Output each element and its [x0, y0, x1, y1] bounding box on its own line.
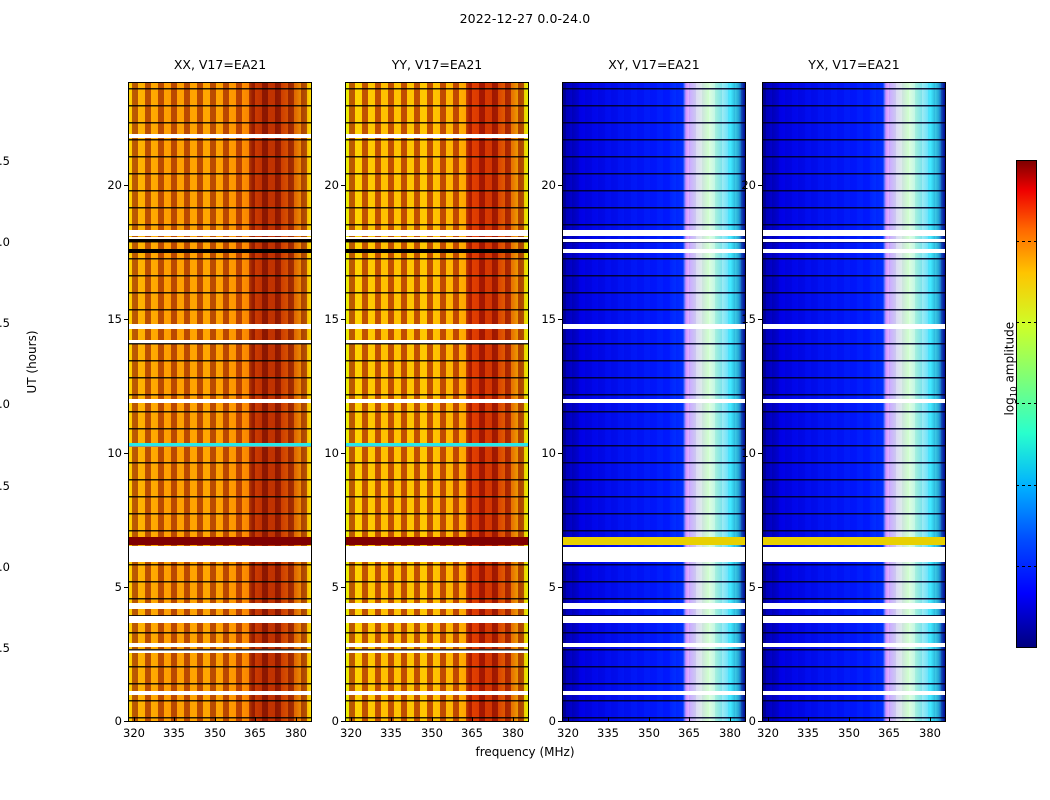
x-tick-label: 335	[374, 726, 408, 740]
y-tick-label: 15	[522, 312, 556, 326]
x-tick-label: 380	[279, 726, 313, 740]
y-tick-label: 15	[88, 312, 122, 326]
y-tick-label: 5	[722, 580, 756, 594]
x-tick-label: 350	[832, 726, 866, 740]
figure-canvas: 2022-12-27 0.0-24.0 XX, V17=EA21 YY, V17…	[0, 0, 1050, 800]
y-tick-label: 20	[88, 178, 122, 192]
y-axis-label: UT (hours)	[25, 302, 39, 422]
x-tick-label: 320	[551, 726, 585, 740]
heatmap-panel-xx[interactable]	[128, 82, 312, 722]
y-tick-label: 5	[305, 580, 339, 594]
y-tick-label: 10	[305, 446, 339, 460]
flag-rows-xx	[129, 83, 311, 721]
colorbar-tick-label: 0.5	[0, 154, 10, 168]
y-tick-label: 15	[722, 312, 756, 326]
x-tick-label: 365	[455, 726, 489, 740]
y-tick-label: 20	[722, 178, 756, 192]
x-tick-label: 320	[117, 726, 151, 740]
x-tick-label: 320	[334, 726, 368, 740]
flag-rows-yy	[346, 83, 528, 721]
panel-title-yy: YY, V17=EA21	[345, 57, 529, 72]
colorbar-label-base: log	[1002, 397, 1016, 415]
colorbar-tick-label: -0.5	[0, 316, 10, 330]
x-tick-label: 380	[713, 726, 747, 740]
heatmap-panel-yx[interactable]	[762, 82, 946, 722]
x-tick-label: 335	[157, 726, 191, 740]
x-axis-label: frequency (MHz)	[0, 745, 1050, 759]
y-tick-label: 15	[305, 312, 339, 326]
heatmap-panel-xy[interactable]	[562, 82, 746, 722]
y-tick-label: 5	[88, 580, 122, 594]
x-tick-label: 350	[632, 726, 666, 740]
figure-title: 2022-12-27 0.0-24.0	[0, 11, 1050, 26]
x-tick-label: 365	[872, 726, 906, 740]
y-tick-label: 5	[522, 580, 556, 594]
x-tick-label: 335	[591, 726, 625, 740]
y-tick-label: 20	[305, 178, 339, 192]
x-tick-label: 380	[913, 726, 947, 740]
colorbar-tick-label: -1.0	[0, 397, 10, 411]
y-tick-label: 10	[88, 446, 122, 460]
x-tick-label: 335	[791, 726, 825, 740]
y-tick-label: 20	[522, 178, 556, 192]
colorbar-tick-label: -2.0	[0, 560, 10, 574]
panel-title-xy: XY, V17=EA21	[562, 57, 746, 72]
x-tick-label: 380	[496, 726, 530, 740]
x-tick-label: 320	[751, 726, 785, 740]
flag-rows-xy	[563, 83, 745, 721]
x-tick-label: 365	[672, 726, 706, 740]
colorbar-tick-label: 0.0	[0, 235, 10, 249]
x-tick-label: 350	[415, 726, 449, 740]
colorbar-label: log10 amplitude	[1002, 289, 1019, 449]
colorbar-tick-label: -1.5	[0, 479, 10, 493]
flag-rows-yx	[763, 83, 945, 721]
panel-title-yx: YX, V17=EA21	[762, 57, 946, 72]
colorbar-label-tail: amplitude	[1002, 322, 1016, 386]
colorbar-tick-label: -2.5	[0, 641, 10, 655]
y-tick-label: 10	[722, 446, 756, 460]
colorbar-label-subscript: 10	[1010, 386, 1020, 397]
x-tick-label: 365	[238, 726, 272, 740]
panel-title-xx: XX, V17=EA21	[128, 57, 312, 72]
x-tick-label: 350	[198, 726, 232, 740]
heatmap-panel-yy[interactable]	[345, 82, 529, 722]
y-tick-label: 10	[522, 446, 556, 460]
